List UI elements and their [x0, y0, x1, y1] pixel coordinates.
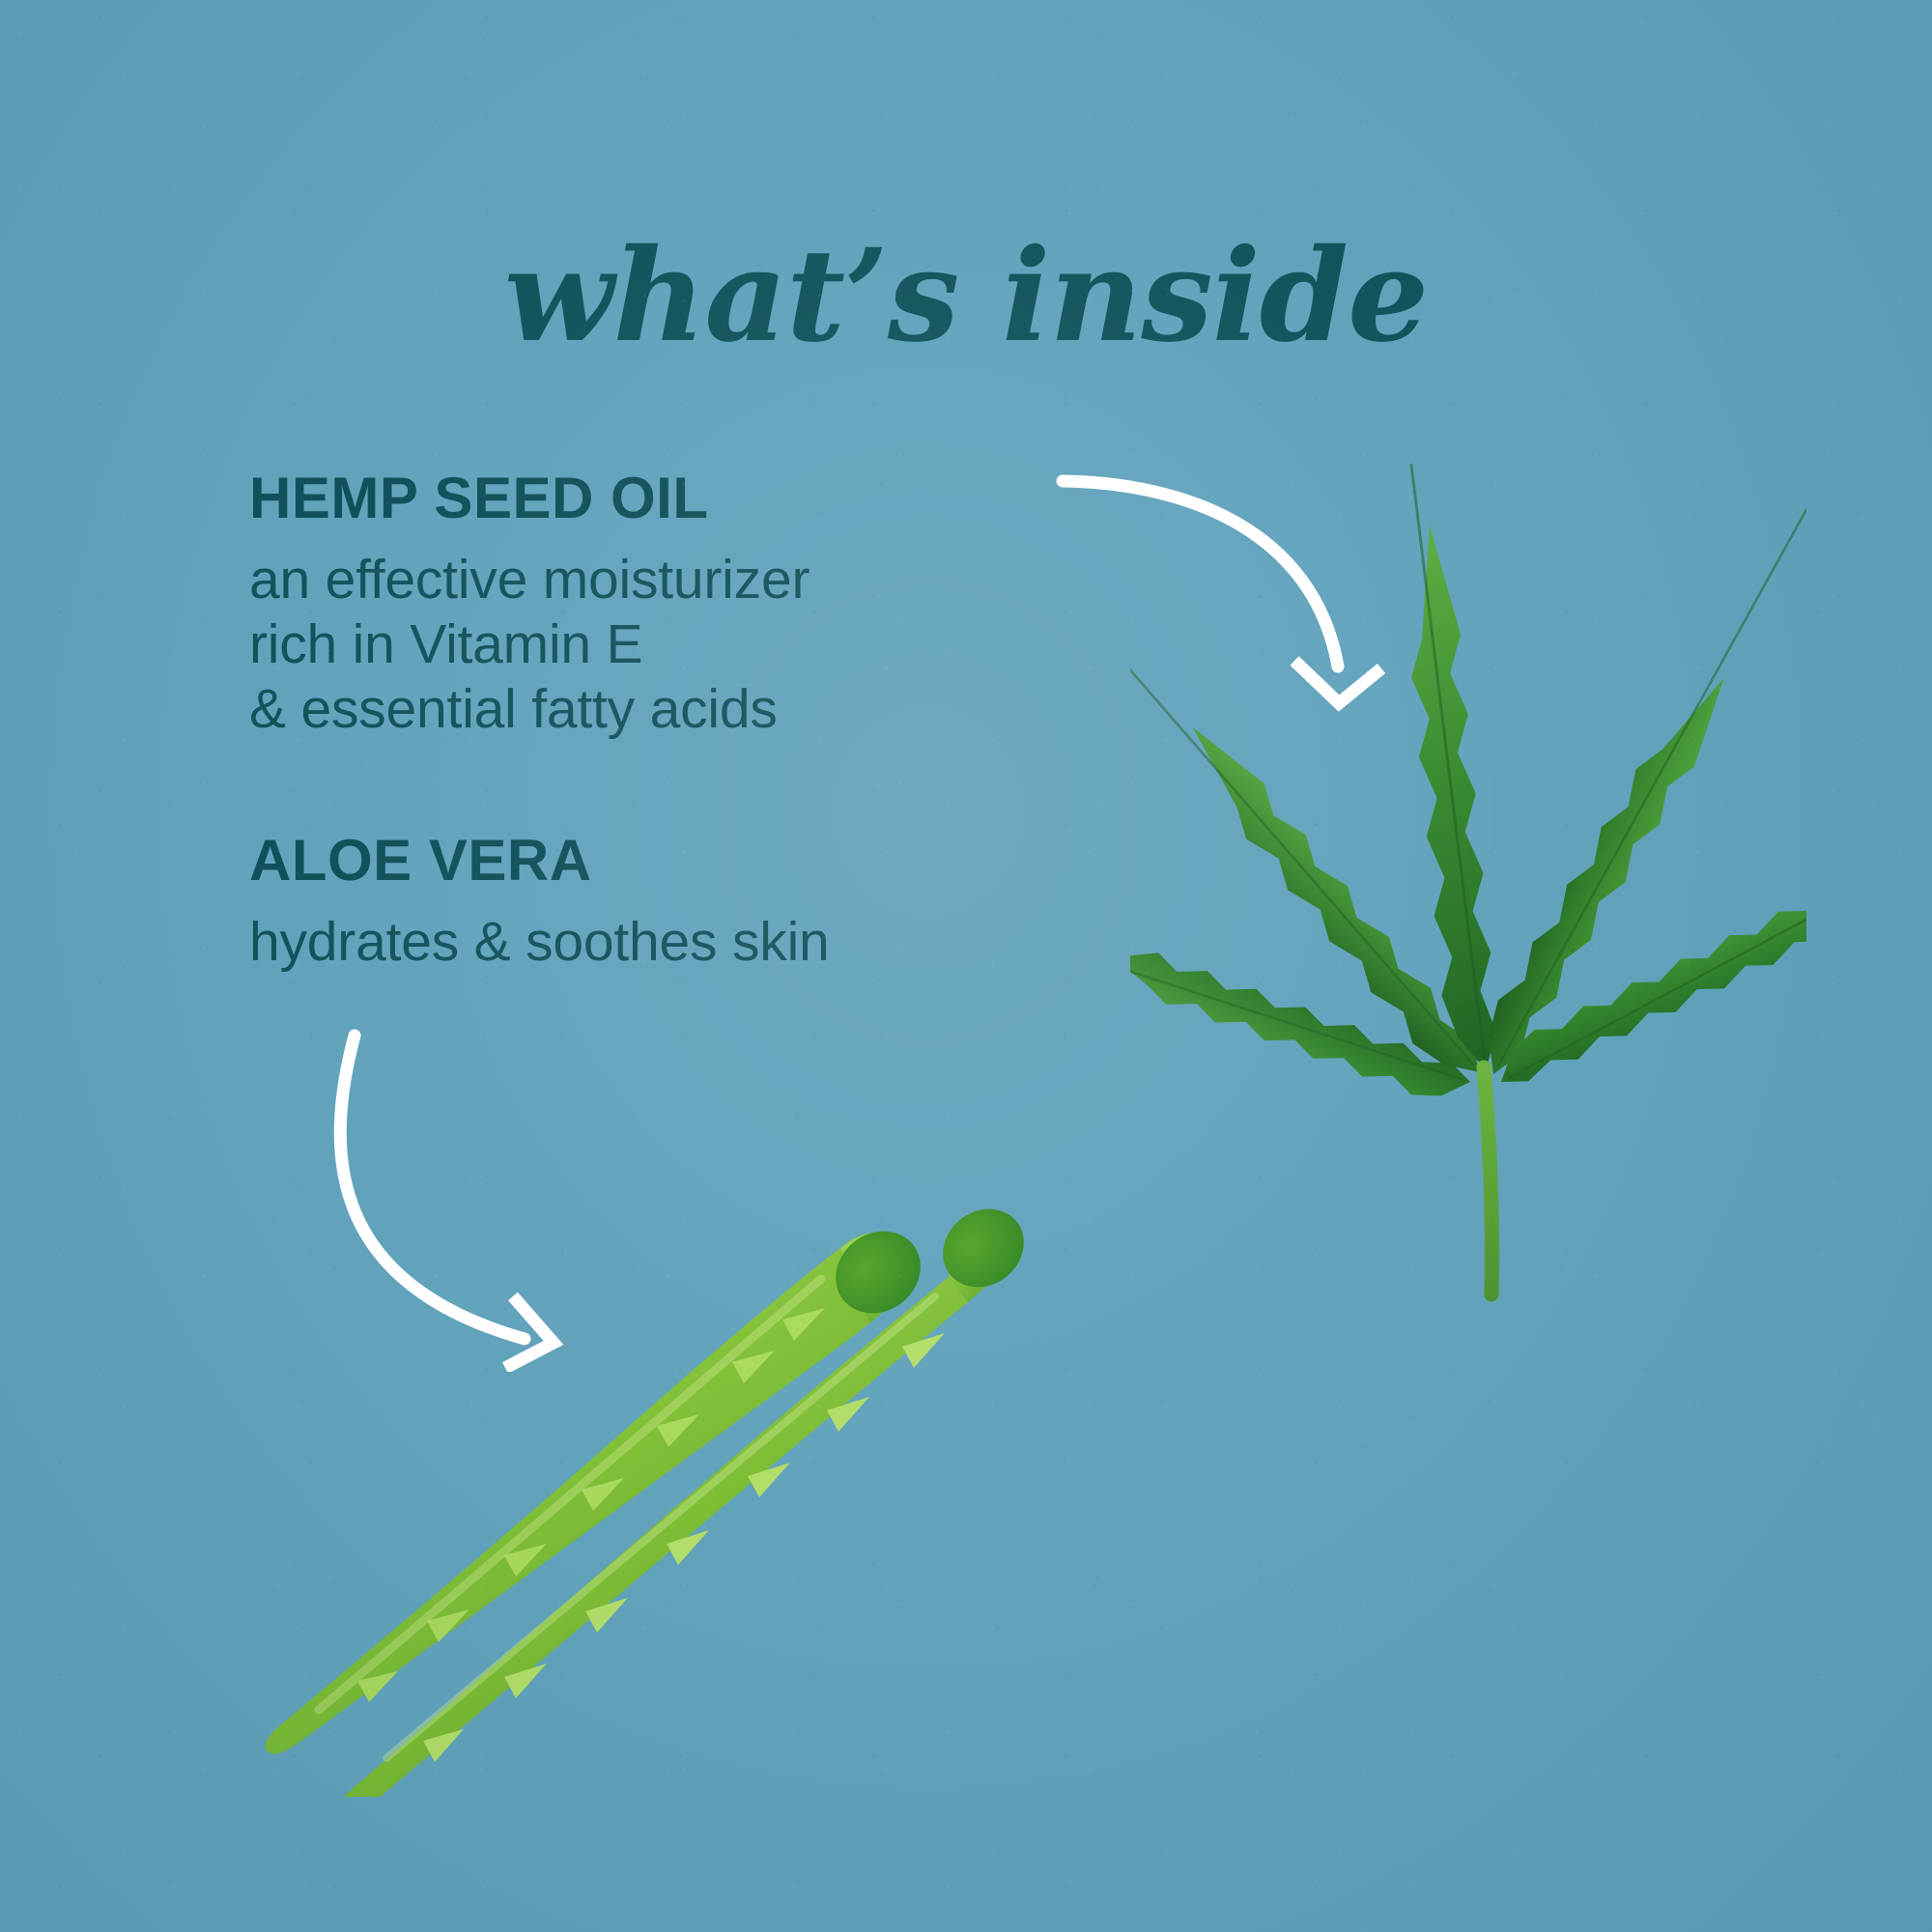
ingredient-description-aloe-vera: hydrates & soothes skin	[249, 910, 1119, 975]
aloe-stalk-upper	[266, 1214, 937, 1753]
ingredient-name-hemp-seed-oil: HEMP SEED OIL	[241, 462, 741, 536]
aloe-vera-stalks-photo	[241, 1043, 1265, 1797]
description-line: hydrates & soothes skin	[249, 910, 1119, 975]
ingredient-list: HEMP SEED OIL an effective moisturizer r…	[249, 462, 1119, 975]
description-line: an effective moisturizer	[249, 548, 1119, 612]
ingredient-aloe-vera: ALOE VERA hydrates & soothes skin	[249, 824, 1119, 975]
description-line: rich in Vitamin E	[249, 612, 1119, 677]
whats-inside-infographic: what’s inside HEMP SEED OIL an effective…	[0, 0, 1932, 1932]
ingredient-hemp-seed-oil: HEMP SEED OIL an effective moisturizer r…	[249, 462, 1119, 741]
ingredient-name-aloe-vera: ALOE VERA	[241, 824, 625, 898]
hemp-leaf-stem	[1484, 1067, 1492, 1294]
aloe-stalk-lower	[335, 1193, 1039, 1797]
page-title: what’s inside	[0, 230, 1932, 364]
description-line: & essential fatty acids	[249, 677, 1119, 742]
hemp-leaf-blades	[1130, 464, 1806, 1111]
ingredient-description-hemp-seed-oil: an effective moisturizer rich in Vitamin…	[249, 548, 1119, 741]
